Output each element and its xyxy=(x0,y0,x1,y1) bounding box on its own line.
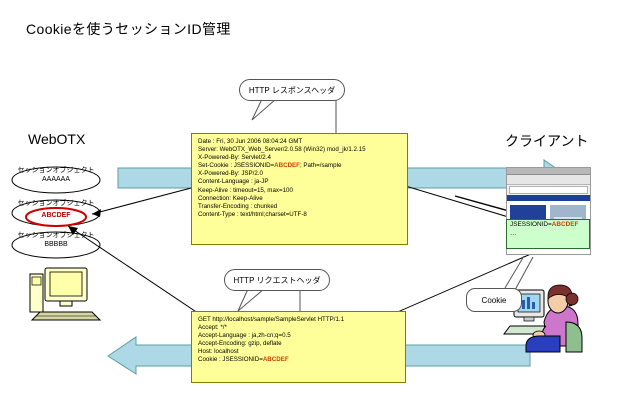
request-cookie-value: ABCDEF xyxy=(263,356,289,363)
response-header-line: X-Powered-By: JSP/2.0 xyxy=(198,170,402,178)
browser-toolbar xyxy=(507,175,590,185)
response-header-line: Date : Fri, 30 Jun 2006 08:04:24 GMT xyxy=(198,138,402,146)
response-header-line: Keep-Alive : timeout=15, max=100 xyxy=(198,187,402,195)
set-cookie-key: Set-Cookie : JSESSIONID= xyxy=(198,162,274,169)
server-computer-icon xyxy=(30,268,100,320)
set-cookie-path: ; Path=/sample xyxy=(300,162,341,169)
http-response-header-box: Date : Fri, 30 Jun 2006 08:04:24 GMT Ser… xyxy=(191,133,408,245)
cookie-store-key: JSESSIONID= xyxy=(510,221,552,228)
session-object-3-value: BBBBB xyxy=(10,241,102,249)
callout-request-header: HTTP リクエストヘッダ xyxy=(224,269,330,291)
diagram-canvas: Cookieを使うセッションID管理 WebOTX クライアント セッションオブ… xyxy=(0,0,640,420)
page-title: Cookieを使うセッションID管理 xyxy=(26,19,231,39)
server-heading: WebOTX xyxy=(28,131,85,147)
session-object-3-caption: セッションオブジェクト xyxy=(10,232,102,240)
response-header-line: Content-Type : text/html;charset=UTF-8 xyxy=(198,211,402,219)
cookie-store-ellipsis: … xyxy=(507,229,589,238)
request-header-line: Accept-Encoding: gzip, deflate xyxy=(198,340,400,348)
session-object-1: セッションオブジェクト AAAAAA xyxy=(10,167,102,195)
browser-footer xyxy=(507,254,590,255)
session-object-2-caption: セッションオブジェクト xyxy=(10,200,102,208)
session-object-3: セッションオブジェクト BBBBB xyxy=(10,232,102,260)
request-header-line: Accept: */* xyxy=(198,324,400,332)
session-object-2: セッションオブジェクト ABCDEF xyxy=(10,200,102,228)
browser-titlebar xyxy=(507,168,590,175)
callout-request-tail xyxy=(238,289,300,311)
response-header-line: Connection: Keep-Alive xyxy=(198,195,402,203)
response-header-line: Content-Language : ja-JP xyxy=(198,178,402,186)
cookie-store-entry: JSESSIONID=ABCDEF xyxy=(507,220,589,229)
response-header-line: Server: WebOTX_Web_Server/2.0.58 (Win32)… xyxy=(198,146,402,154)
callout-response-header: HTTP レスポンスヘッダ xyxy=(239,79,345,101)
request-cookie-key: Cookie : JSESSIONID= xyxy=(198,356,263,363)
set-cookie-value: ABCDEF xyxy=(274,162,300,169)
http-request-header-box: GET http://localhost/sample/SampleServle… xyxy=(191,311,406,383)
callout-cookie: Cookie xyxy=(466,288,522,312)
cookie-store-value: ABCDEF xyxy=(552,221,579,228)
request-header-line: Accept-Language : ja,zh-cn;q=0.5 xyxy=(198,332,400,340)
session-object-1-caption: セッションオブジェクト xyxy=(10,167,102,175)
callout-response-tail xyxy=(252,99,336,133)
response-header-line-set-cookie: Set-Cookie : JSESSIONID=ABCDEF; Path=/sa… xyxy=(198,162,402,170)
callout-cookie-tail xyxy=(505,256,533,290)
response-header-line: Transfer-Encoding : chunked xyxy=(198,203,402,211)
request-header-line: GET http://localhost/sample/SampleServle… xyxy=(198,316,400,324)
session-object-2-value: ABCDEF xyxy=(10,212,102,220)
session-object-1-value: AAAAAA xyxy=(10,176,102,184)
browser-address-bar xyxy=(509,186,588,194)
client-heading: クライアント xyxy=(505,131,588,151)
request-header-line: Host: localhost xyxy=(198,348,400,356)
client-cookie-store: JSESSIONID=ABCDEF … xyxy=(506,219,590,249)
request-header-line-cookie: Cookie : JSESSIONID=ABCDEF xyxy=(198,356,400,364)
response-header-line: X-Powered-By: Servlet/2.4 xyxy=(198,154,402,162)
